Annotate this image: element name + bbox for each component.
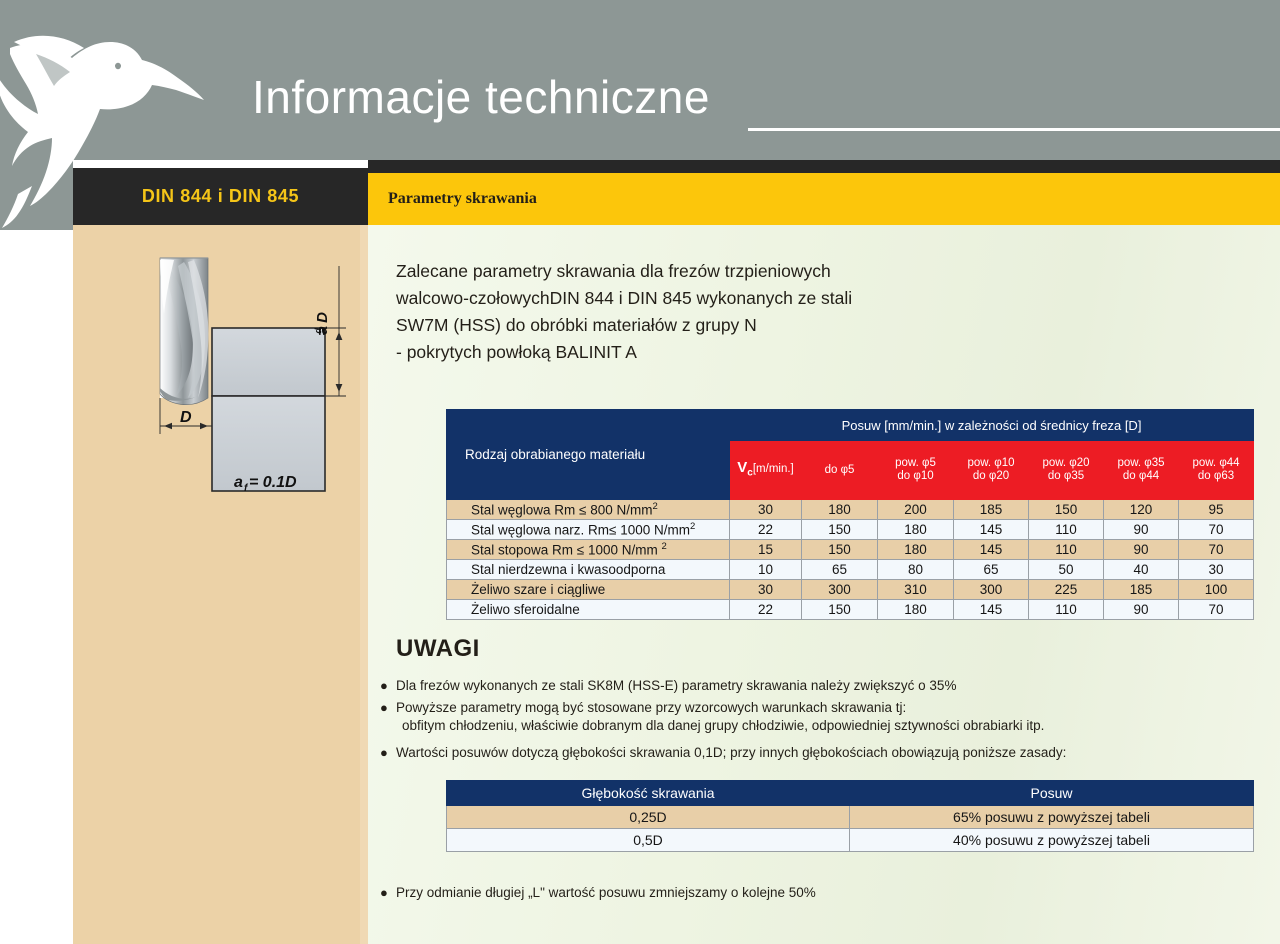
notes-title: UWAGI	[396, 635, 480, 663]
cell-vc: 30	[730, 500, 802, 520]
section-banner: Parametry skrawania	[368, 173, 1280, 225]
cell-feed-3: 110	[1029, 600, 1104, 620]
svg-text:= 0.1D: = 0.1D	[249, 474, 297, 491]
cell-feed-4: 40	[1104, 560, 1179, 580]
cell-feed-0: 300	[802, 580, 878, 600]
end-mill-diagram: a d = D D a f = 0.1D	[130, 248, 365, 498]
cell-material: Żeliwo szare i ciągliwe	[447, 580, 730, 600]
cell-feed-1: 180	[878, 520, 954, 540]
header-rule	[748, 128, 1280, 131]
table-row: Stal węglowa narz. Rm≤ 1000 N/mm22215018…	[447, 520, 1254, 540]
depth-cell-0: 0,25D	[447, 806, 850, 829]
cell-vc: 10	[730, 560, 802, 580]
feed-rate-table: Rodzaj obrabianego materiału Posuw [mm/m…	[446, 409, 1254, 620]
cell-material: Żeliwo sferoidalne	[447, 600, 730, 620]
cell-feed-1: 200	[878, 500, 954, 520]
cell-vc: 15	[730, 540, 802, 560]
cell-feed-2: 185	[954, 500, 1029, 520]
svg-text:= D: = D	[314, 312, 331, 336]
intro-paragraph: Zalecane parametry skrawania dla frezów …	[396, 258, 996, 366]
page-title: Informacje techniczne	[252, 70, 710, 124]
header-col-5: pow. φ44do φ63	[1179, 441, 1254, 500]
cell-feed-0: 65	[802, 560, 878, 580]
cell-feed-1: 180	[878, 600, 954, 620]
cell-feed-2: 145	[954, 540, 1029, 560]
standard-banner: DIN 844 i DIN 845	[73, 168, 368, 225]
depth-cell-1: 65% posuwu z powyższej tabeli	[850, 806, 1254, 829]
table-row: Stal nierdzewna i kwasoodporna1065806550…	[447, 560, 1254, 580]
intro-line-3: SW7M (HSS) do obróbki materiałów z grupy…	[396, 312, 996, 339]
intro-line-4: - pokrytych powłoką BALINIT A	[396, 339, 996, 366]
cell-feed-2: 145	[954, 520, 1029, 540]
bullet-icon: ●	[380, 699, 396, 717]
header-col-0: do φ5	[802, 441, 878, 500]
header-col-3: pow. φ20do φ35	[1029, 441, 1104, 500]
cell-vc: 22	[730, 520, 802, 540]
note-item-2-sub: obfitym chłodzeniu, właściwie dobranym d…	[380, 717, 1044, 735]
cell-feed-5: 95	[1179, 500, 1254, 520]
cell-vc: 22	[730, 600, 802, 620]
depth-cell-0: 0,5D	[447, 829, 850, 852]
depth-of-cut-table: Głębokość skrawania Posuw 0,25D65% posuw…	[446, 780, 1254, 852]
note-item-4: ●Przy odmianie długiej „L" wartość posuw…	[380, 884, 816, 902]
cell-feed-4: 185	[1104, 580, 1179, 600]
cell-feed-0: 150	[802, 600, 878, 620]
cell-material: Stal nierdzewna i kwasoodporna	[447, 560, 730, 580]
cell-feed-1: 180	[878, 540, 954, 560]
header-col-4: pow. φ35do φ44	[1104, 441, 1179, 500]
depth-row: 0,5D40% posuwu z powyższej tabeli	[447, 829, 1254, 852]
cell-feed-3: 150	[1029, 500, 1104, 520]
header-feed-group: Posuw [mm/min.] w zależności od średnicy…	[730, 410, 1254, 441]
header-col-2: pow. φ10do φ20	[954, 441, 1029, 500]
cell-feed-0: 150	[802, 540, 878, 560]
cell-feed-3: 225	[1029, 580, 1104, 600]
cell-feed-5: 70	[1179, 600, 1254, 620]
depth-header-0: Głębokość skrawania	[447, 781, 850, 806]
standard-label: DIN 844 i DIN 845	[73, 168, 368, 225]
bullet-icon: ●	[380, 884, 396, 902]
cell-feed-5: 100	[1179, 580, 1254, 600]
note-item-2: ●Powyższe parametry mogą być stosowane p…	[380, 699, 1044, 735]
banner-black-strip	[368, 160, 1280, 173]
cell-feed-3: 110	[1029, 540, 1104, 560]
table-row: Stal węglowa Rm ≤ 800 N/mm23018020018515…	[447, 500, 1254, 520]
cell-vc: 30	[730, 580, 802, 600]
feed-table-body: Stal węglowa Rm ≤ 800 N/mm23018020018515…	[447, 500, 1254, 620]
cell-feed-4: 90	[1104, 600, 1179, 620]
cell-feed-1: 310	[878, 580, 954, 600]
cell-material: Stal stopowa Rm ≤ 1000 N/mm 2	[447, 540, 730, 560]
cell-feed-4: 120	[1104, 500, 1179, 520]
intro-line-1: Zalecane parametry skrawania dla frezów …	[396, 258, 996, 285]
depth-table-body: 0,25D65% posuwu z powyższej tabeli0,5D40…	[447, 806, 1254, 852]
header-material: Rodzaj obrabianego materiału	[447, 410, 730, 500]
dim-label-af: a	[234, 474, 243, 491]
table-row: Stal stopowa Rm ≤ 1000 N/mm 215150180145…	[447, 540, 1254, 560]
page-header: Informacje techniczne	[0, 0, 1280, 160]
intro-line-2: walcowo-czołowychDIN 844 i DIN 845 wykon…	[396, 285, 996, 312]
cell-feed-1: 80	[878, 560, 954, 580]
cell-feed-5: 70	[1179, 540, 1254, 560]
depth-row: 0,25D65% posuwu z powyższej tabeli	[447, 806, 1254, 829]
cell-feed-2: 300	[954, 580, 1029, 600]
cell-feed-4: 90	[1104, 540, 1179, 560]
cell-feed-0: 150	[802, 520, 878, 540]
cell-feed-3: 50	[1029, 560, 1104, 580]
note-item-3: ●Wartości posuwów dotyczą głębokości skr…	[380, 744, 1066, 762]
bullet-icon: ●	[380, 677, 396, 695]
section-label: Parametry skrawania	[388, 173, 537, 225]
table-row: Żeliwo szare i ciągliwe30300310300225185…	[447, 580, 1254, 600]
table-row: Żeliwo sferoidalne221501801451109070	[447, 600, 1254, 620]
depth-header-1: Posuw	[850, 781, 1254, 806]
cell-material: Stal węglowa Rm ≤ 800 N/mm2	[447, 500, 730, 520]
cell-feed-3: 110	[1029, 520, 1104, 540]
cell-feed-5: 70	[1179, 520, 1254, 540]
cell-feed-2: 65	[954, 560, 1029, 580]
dim-label-d: D	[180, 409, 192, 426]
table-header-row-1: Rodzaj obrabianego materiału Posuw [mm/m…	[447, 410, 1254, 441]
header-col-1: pow. φ5do φ10	[878, 441, 954, 500]
note-item-1: ●Dla frezów wykonanych ze stali SK8M (HS…	[380, 677, 956, 695]
cell-feed-2: 145	[954, 600, 1029, 620]
cell-feed-0: 180	[802, 500, 878, 520]
bullet-icon: ●	[380, 744, 396, 762]
header-vc: Vc[m/min.]	[730, 441, 802, 500]
cell-feed-4: 90	[1104, 520, 1179, 540]
cell-material: Stal węglowa narz. Rm≤ 1000 N/mm2	[447, 520, 730, 540]
cell-feed-5: 30	[1179, 560, 1254, 580]
depth-cell-1: 40% posuwu z powyższej tabeli	[850, 829, 1254, 852]
depth-header-row: Głębokość skrawania Posuw	[447, 781, 1254, 806]
